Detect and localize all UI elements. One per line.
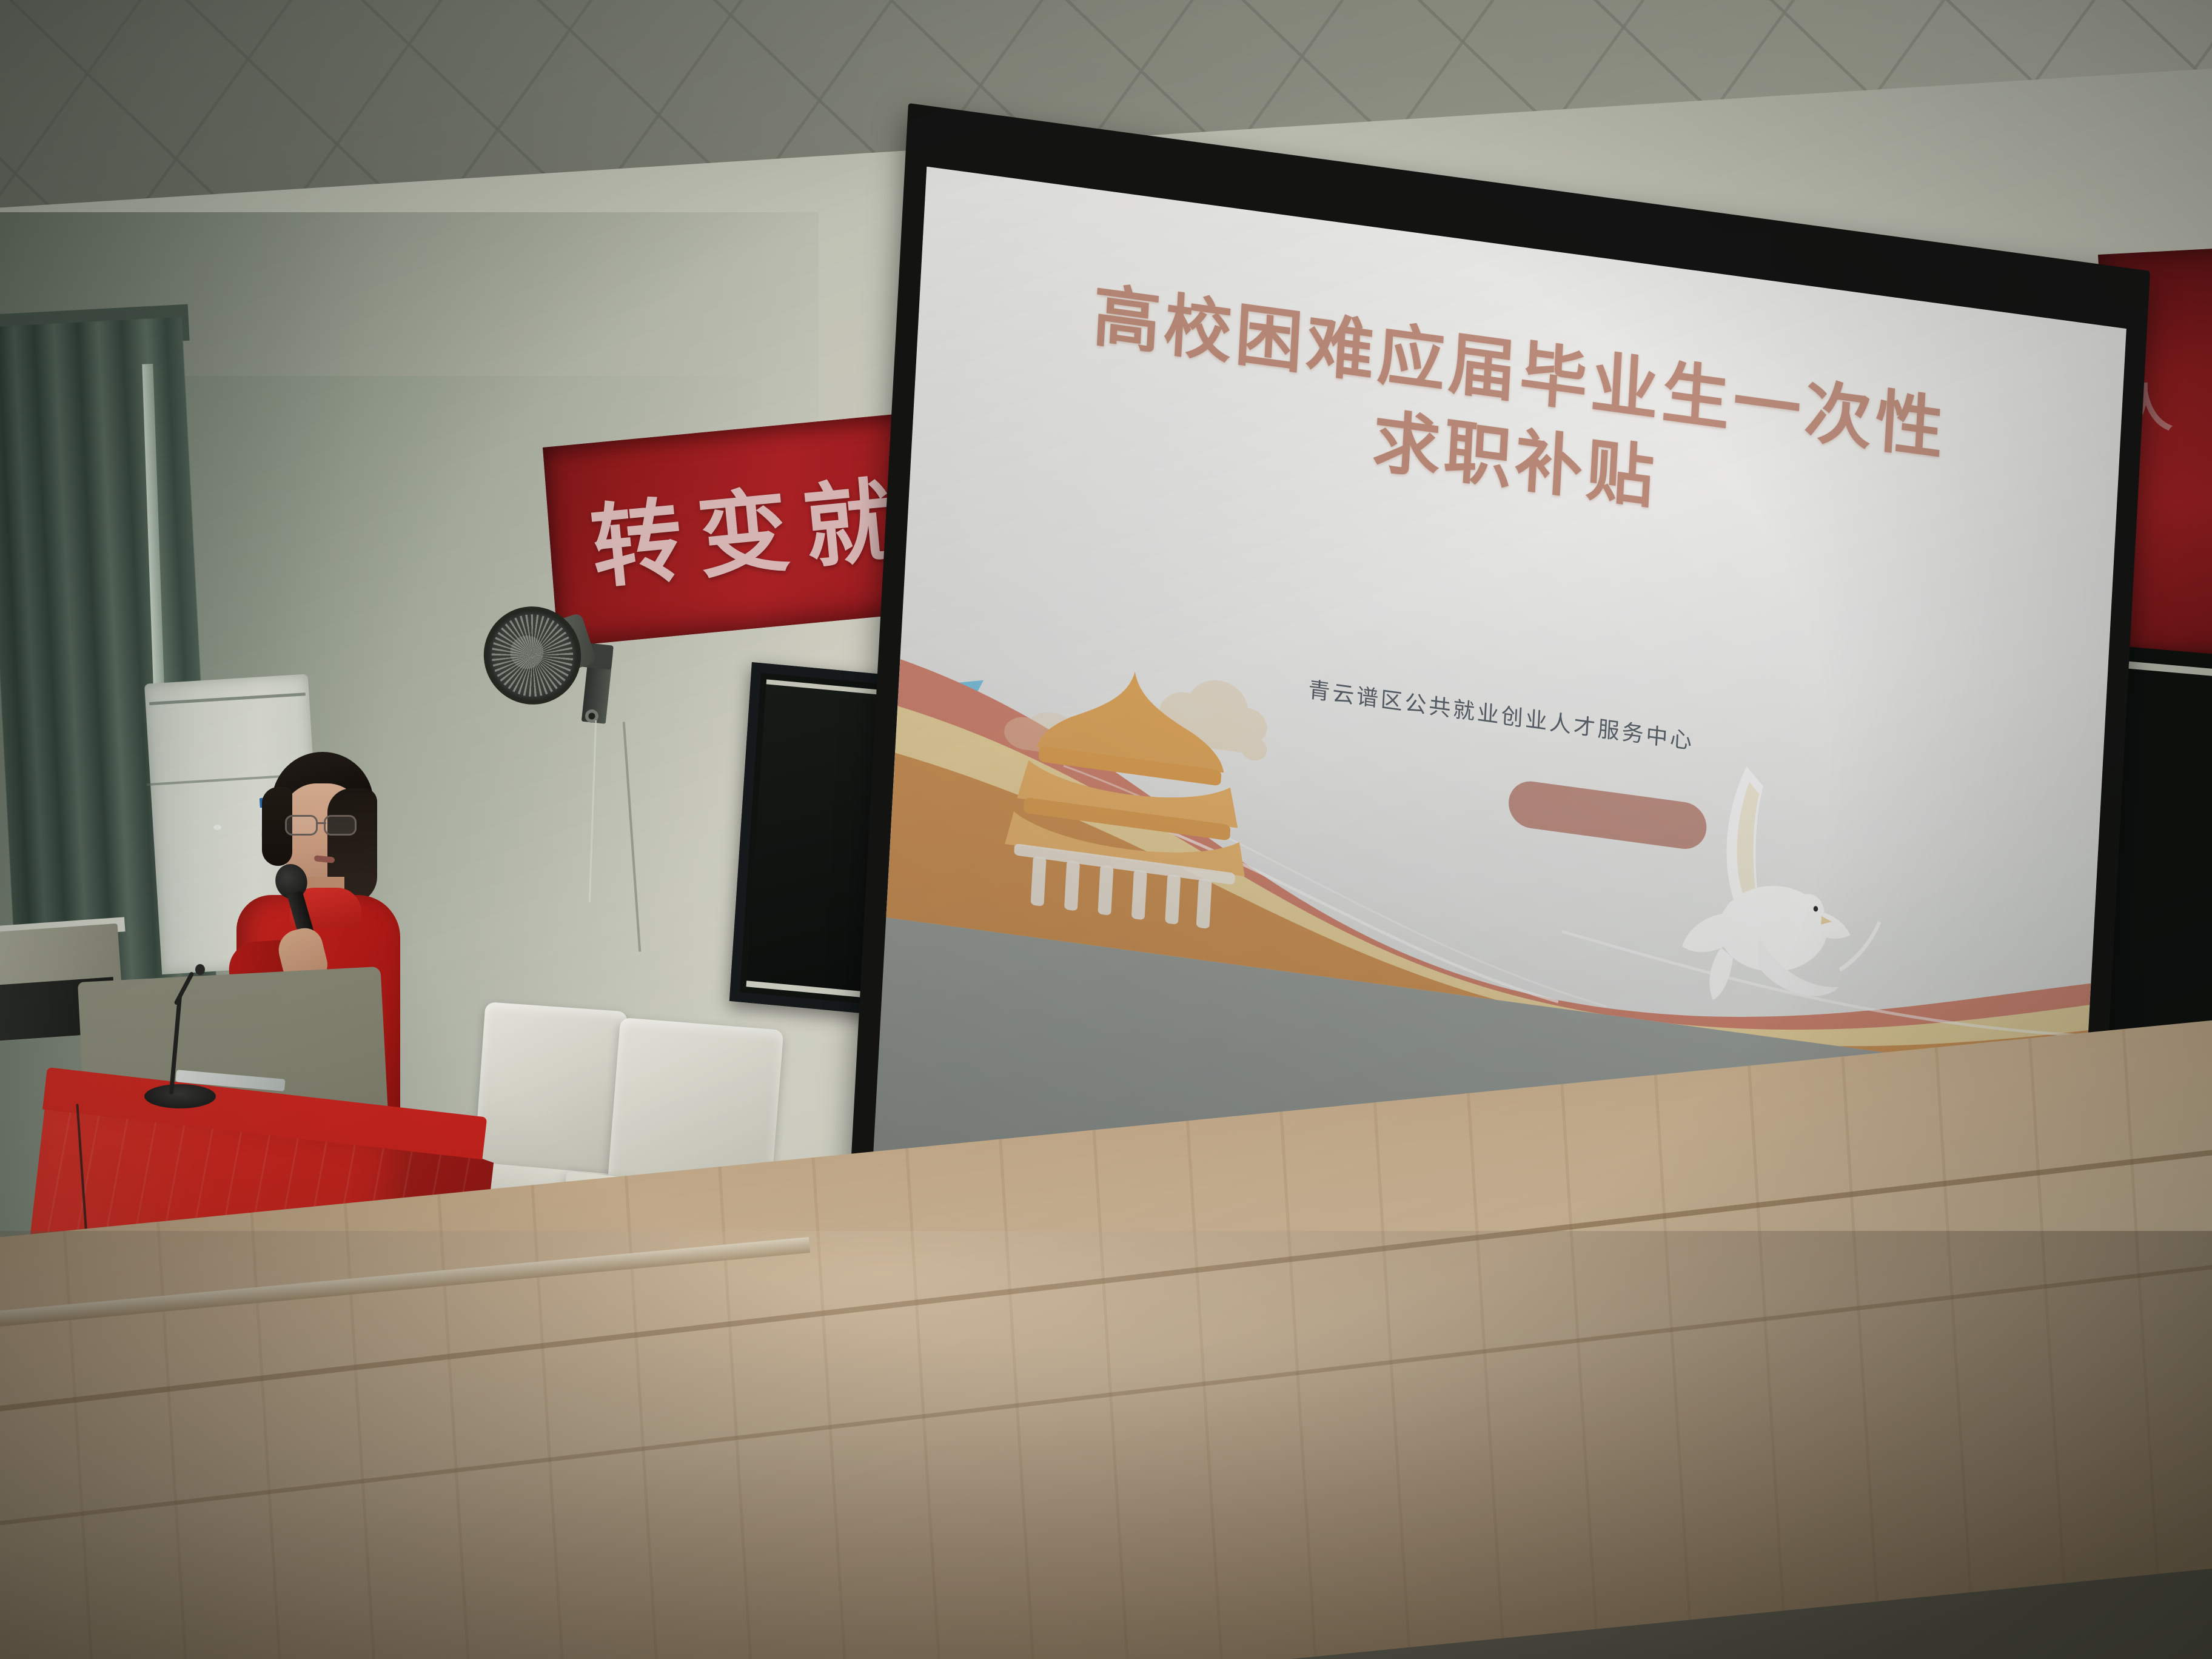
desk-microphone-base — [144, 1084, 216, 1108]
desk-microphone-capsule — [195, 964, 205, 975]
glasses-icon — [284, 815, 366, 837]
room-photo-scene: 转变就 人 — [0, 0, 2212, 1659]
cabinet-indicator-dot — [213, 825, 221, 830]
glasses-right-lens — [324, 815, 357, 836]
glasses-left-lens — [285, 815, 318, 836]
floor-shading — [0, 1231, 2212, 1659]
dove-icon — [1649, 743, 1891, 1029]
projected-slide: 高校困难应届毕业生一次性 求职补贴 青云谱区公共就业创业人才服务中心 — [886, 167, 2126, 1080]
